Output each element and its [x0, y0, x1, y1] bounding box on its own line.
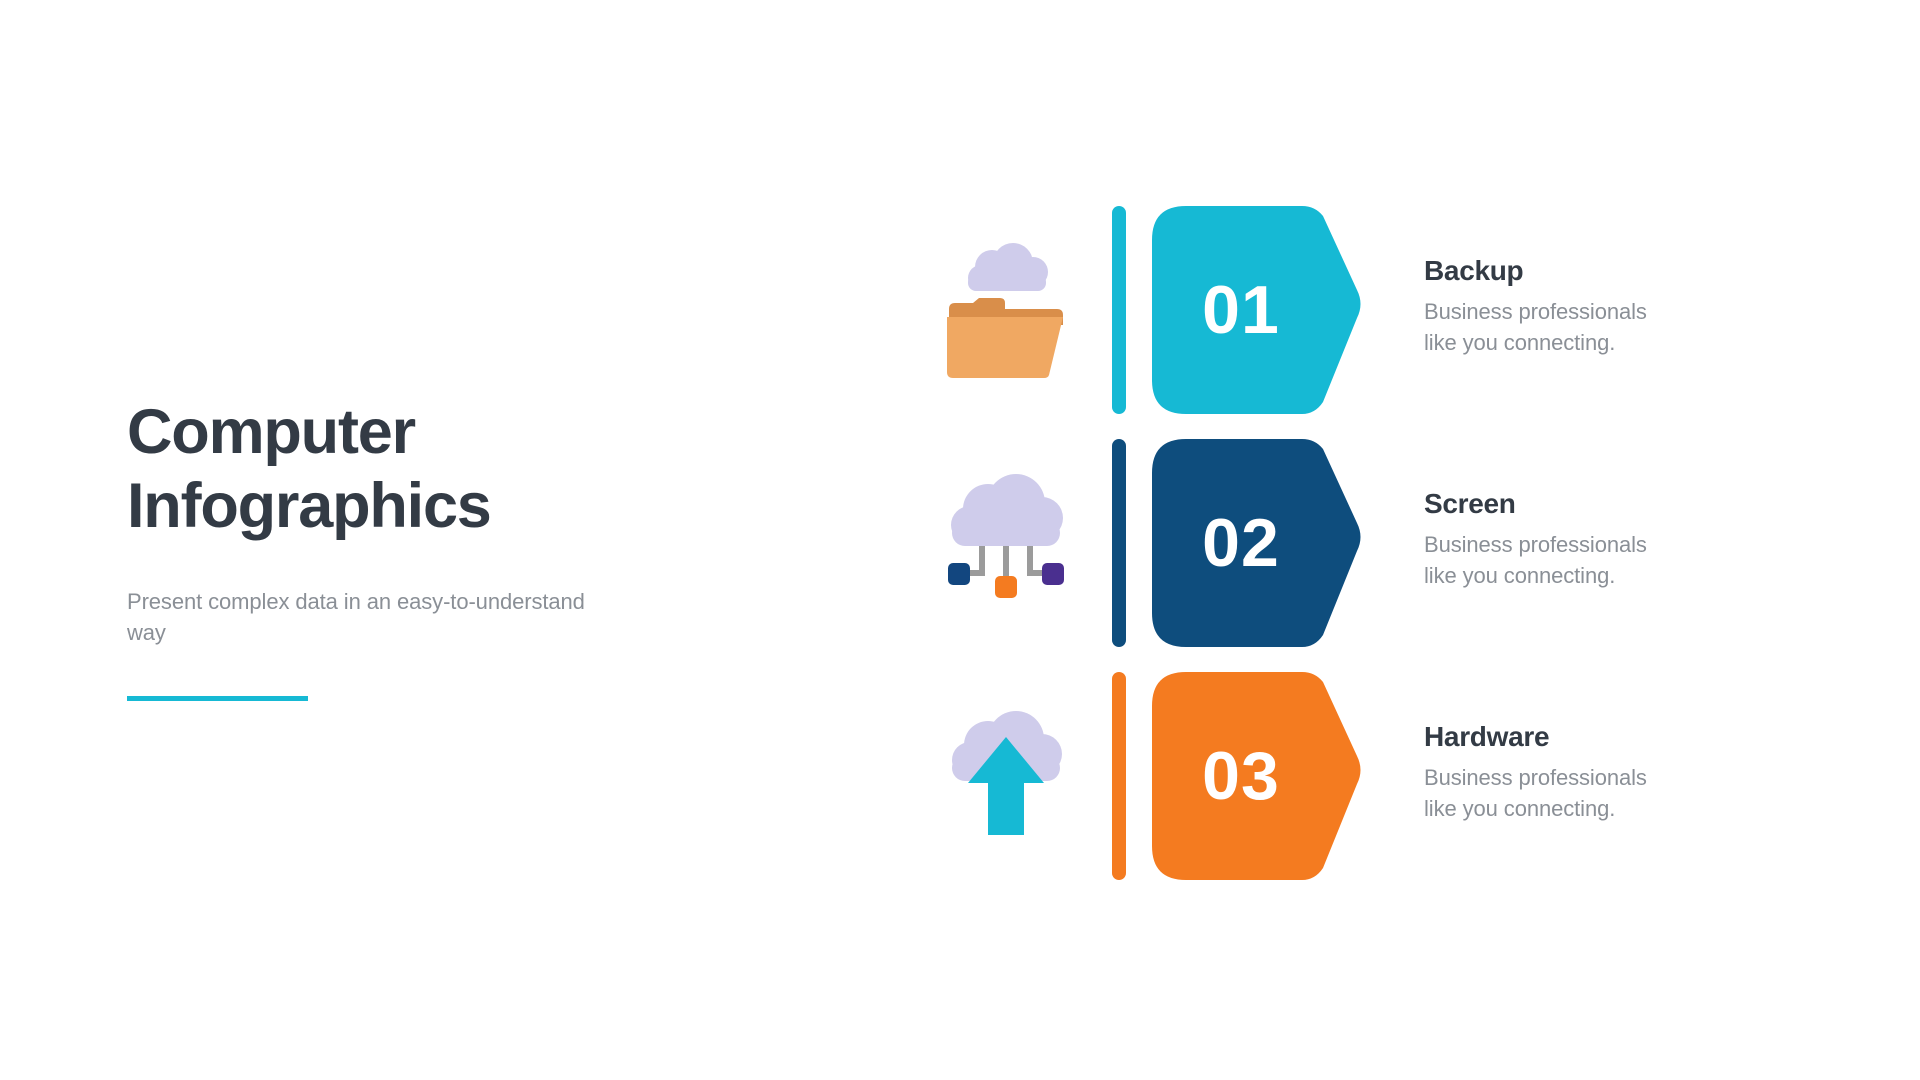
row-accent-pill	[1112, 672, 1126, 880]
item-body-line-1: Business professionals	[1424, 296, 1780, 327]
list-item[interactable]: 03 Hardware Business professionals like …	[900, 659, 1780, 892]
item-heading: Backup	[1424, 255, 1780, 287]
item-text: Hardware Business professionals like you…	[1364, 721, 1780, 830]
folder-cloud-icon	[900, 215, 1112, 405]
item-body: Business professionals like you connecti…	[1424, 762, 1780, 824]
row-accent-pill	[1112, 439, 1126, 647]
cloud-network-icon	[900, 448, 1112, 638]
number-badge[interactable]: 02	[1152, 439, 1364, 647]
item-body-line-2: like you connecting.	[1424, 560, 1780, 591]
infographic-rows: 01 Backup Business professionals like yo…	[900, 193, 1780, 892]
row-accent-pill	[1112, 206, 1126, 414]
list-item[interactable]: 01 Backup Business professionals like yo…	[900, 193, 1780, 426]
item-body-line-2: like you connecting.	[1424, 327, 1780, 358]
number-badge[interactable]: 03	[1152, 672, 1364, 880]
cloud-upload-icon	[900, 681, 1112, 871]
title-panel: Computer Infographics Present complex da…	[127, 395, 647, 701]
badge-number: 01	[1202, 271, 1280, 349]
item-body-line-1: Business professionals	[1424, 529, 1780, 560]
item-body: Business professionals like you connecti…	[1424, 529, 1780, 591]
page-subtitle: Present complex data in an easy-to-under…	[127, 586, 597, 648]
page-title-line-1: Computer	[127, 395, 647, 469]
list-item[interactable]: 02 Screen Business professionals like yo…	[900, 426, 1780, 659]
badge-number: 02	[1202, 504, 1280, 582]
item-heading: Hardware	[1424, 721, 1780, 753]
page-title-line-2: Infographics	[127, 469, 647, 543]
item-body: Business professionals like you connecti…	[1424, 296, 1780, 358]
item-text: Screen Business professionals like you c…	[1364, 488, 1780, 597]
item-body-line-1: Business professionals	[1424, 762, 1780, 793]
number-badge[interactable]: 01	[1152, 206, 1364, 414]
item-body-line-2: like you connecting.	[1424, 793, 1780, 824]
item-text: Backup Business professionals like you c…	[1364, 255, 1780, 364]
badge-number: 03	[1202, 737, 1280, 815]
accent-underline-bar	[127, 696, 308, 701]
item-heading: Screen	[1424, 488, 1780, 520]
page-title: Computer Infographics	[127, 395, 647, 544]
